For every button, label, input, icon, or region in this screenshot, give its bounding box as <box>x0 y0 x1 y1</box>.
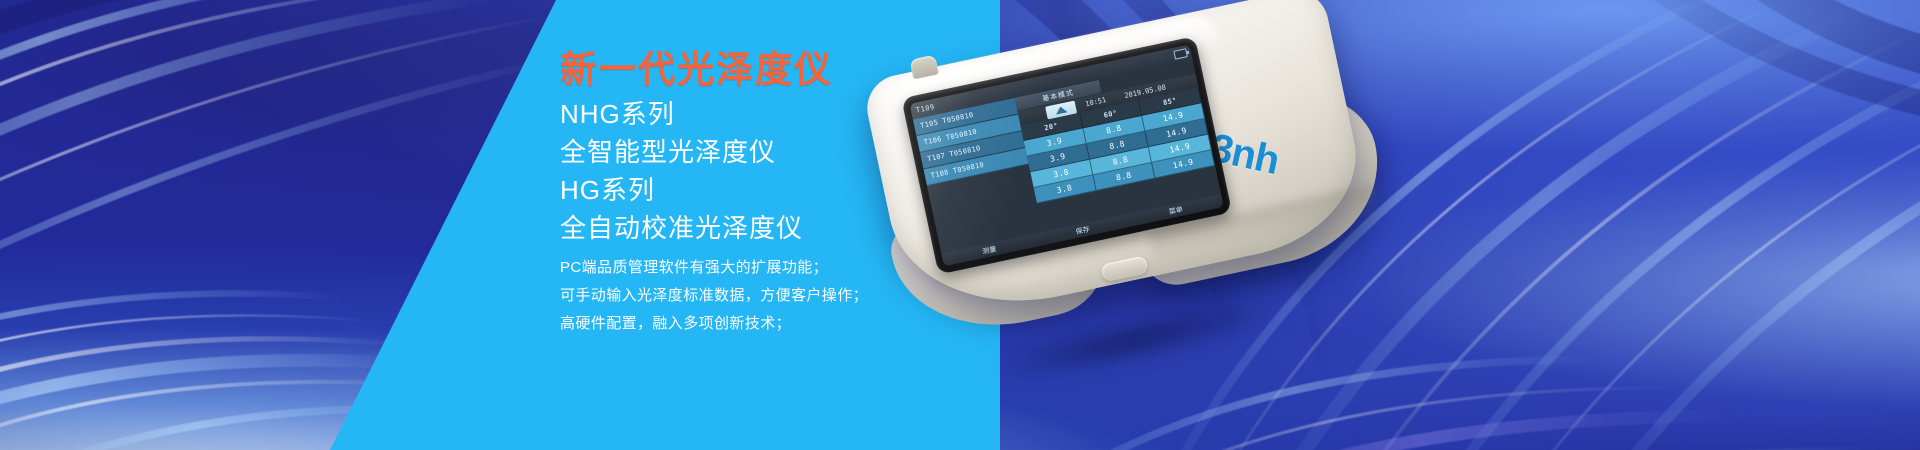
feature-line-2: 可手动输入光泽度标准数据，方便客户操作； <box>560 282 868 310</box>
feature-line-1: PC端品质管理软件有强大的扩展功能； <box>560 254 828 282</box>
subtitle-line-4: 全自动校准光泽度仪 <box>560 210 803 246</box>
gloss-meter-device: 3nh T109 基本模式 10:51 2019.05.08 T105 <box>880 10 1440 440</box>
softkey-menu[interactable]: 菜单 <box>1168 204 1184 217</box>
subtitle-line-2: 全智能型光泽度仪 <box>560 134 776 170</box>
clock-value: 10:51 <box>1085 96 1107 108</box>
device-body: 3nh T109 基本模式 10:51 2019.05.08 T105 <box>861 0 1409 405</box>
screen-title-text: T109 <box>915 102 935 114</box>
feature-line-3: 高硬件配置，融入多项创新技术； <box>560 310 791 338</box>
page-title: 新一代光泽度仪 <box>560 48 833 92</box>
banner-root: 新一代光泽度仪 NHG系列 全智能型光泽度仪 HG系列 全自动校准光泽度仪 PC… <box>0 0 1920 450</box>
softkey-measure[interactable]: 测量 <box>981 244 997 257</box>
subtitle-line-3: HG系列 <box>560 172 655 208</box>
subtitle-line-1: NHG系列 <box>560 96 675 132</box>
battery-icon <box>1173 48 1188 60</box>
softkey-save[interactable]: 保存 <box>1075 224 1091 237</box>
